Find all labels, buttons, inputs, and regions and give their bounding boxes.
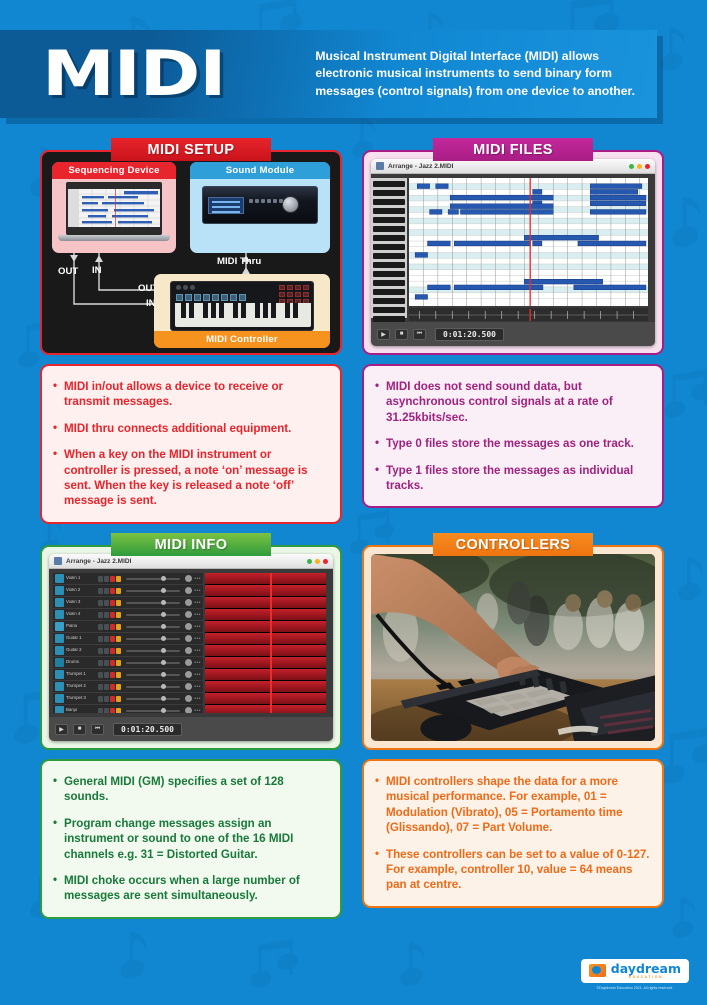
volume-fader[interactable] (126, 614, 180, 616)
header-subtitle: Musical Instrument Digital Interface (MI… (315, 48, 657, 100)
midi-info-bullets: General MIDI (GM) specifies a set of 128… (53, 774, 328, 904)
window-titlebar: Arrange - Jazz 2.MIDI (49, 554, 333, 569)
monitor-button[interactable] (116, 624, 121, 630)
window-controls[interactable] (307, 559, 328, 564)
app-icon (376, 162, 384, 170)
midi-region[interactable] (205, 633, 326, 645)
track-name: Violin 1 (66, 576, 96, 581)
solo-button[interactable] (104, 660, 109, 666)
track-name: Trumpet 1 (66, 672, 96, 677)
pan-knob[interactable] (185, 707, 192, 713)
keyboard-illustration (170, 281, 314, 331)
panel-midi-files: MIDI FILES Arrange - Jazz 2.MIDI (362, 138, 664, 508)
mute-button[interactable] (98, 672, 103, 678)
record-button[interactable] (110, 612, 115, 618)
device-midi-controller-label: MIDI Controller (154, 331, 330, 348)
volume-fader[interactable] (126, 650, 180, 652)
photo-midi-controller-performance (371, 554, 655, 741)
midi-setup-diagram: Sequencing Device (40, 150, 342, 355)
track-name: Violin 3 (66, 600, 96, 605)
window-title: Arrange - Jazz 2.MIDI (66, 558, 131, 565)
logo-mark-icon (589, 964, 606, 977)
device-sequencing: Sequencing Device (52, 162, 176, 253)
mute-button[interactable] (98, 648, 103, 654)
track-name: Violin 2 (66, 588, 96, 593)
track-name: Violin 4 (66, 612, 96, 617)
track-options-icon[interactable]: ••• (194, 660, 203, 666)
list-item: Type 0 files store the messages as one t… (375, 436, 650, 451)
panel-midi-setup: MIDI SETUP Sequencing Device (40, 138, 342, 524)
window-titlebar: Arrange - Jazz 2.MIDI (371, 159, 655, 174)
solo-button[interactable] (104, 576, 109, 582)
midi-files-text-box: MIDI does not send sound data, but async… (362, 364, 664, 508)
monitor-button[interactable] (116, 576, 121, 582)
table-row[interactable]: Trumpet 3••• (53, 693, 203, 705)
track-name: Trumpet 2 (66, 684, 96, 689)
list-item: When a key on the MIDI instrument or con… (53, 447, 328, 509)
window-title: Arrange - Jazz 2.MIDI (388, 163, 453, 170)
solo-button[interactable] (104, 600, 109, 606)
solo-button[interactable] (104, 636, 109, 642)
monitor-button[interactable] (116, 660, 121, 666)
table-row[interactable]: Violin 1••• (53, 573, 203, 585)
play-button[interactable]: ▶ (55, 724, 68, 735)
solo-button[interactable] (104, 672, 109, 678)
list-item: Type 1 files store the messages as indiv… (375, 463, 650, 494)
logo-name: daydream (611, 963, 681, 976)
record-button[interactable] (110, 600, 115, 606)
table-row[interactable]: Banjo••• (53, 705, 203, 713)
transport-bar-info[interactable]: ▶ ■ ⏮ 0:01:20.500 (49, 717, 333, 741)
track-options-icon[interactable]: ••• (194, 708, 203, 714)
timeline-ruler[interactable] (409, 308, 648, 320)
device-sequencing-label: Sequencing Device (52, 162, 176, 179)
note-grid[interactable] (409, 178, 648, 306)
maximize-icon[interactable] (637, 164, 642, 169)
instrument-icon (55, 682, 64, 691)
device-midi-controller: MIDI Controller (154, 274, 330, 348)
mute-button[interactable] (98, 684, 103, 690)
controllers-text-box: MIDI controllers shape the data for a mo… (362, 759, 664, 908)
mute-button[interactable] (98, 576, 103, 582)
label-in-left: IN (92, 265, 102, 276)
track-buttons[interactable] (98, 576, 121, 582)
table-row[interactable]: Violin 4••• (53, 609, 203, 621)
pan-knob[interactable] (185, 623, 192, 630)
daw-window-files: Arrange - Jazz 2.MIDI (371, 159, 655, 346)
banner-midi-setup: MIDI SETUP (111, 138, 271, 161)
midi-region[interactable] (205, 585, 326, 597)
instrument-icon (55, 634, 64, 643)
playhead[interactable] (270, 573, 272, 713)
mute-button[interactable] (98, 624, 103, 630)
midi-region[interactable] (205, 645, 326, 657)
table-row[interactable]: Guitar 1••• (53, 633, 203, 645)
pan-knob[interactable] (185, 659, 192, 666)
track-buttons[interactable] (98, 636, 121, 642)
volume-fader[interactable] (126, 578, 180, 580)
record-button[interactable] (110, 672, 115, 678)
midi-region[interactable] (205, 705, 326, 713)
banner-midi-files: MIDI FILES (433, 138, 593, 161)
list-item: MIDI controllers shape the data for a mo… (375, 774, 650, 836)
mute-button[interactable] (98, 600, 103, 606)
table-row[interactable]: Guitar 2••• (53, 645, 203, 657)
instrument-icon (55, 622, 64, 631)
volume-fader[interactable] (126, 674, 180, 676)
record-button[interactable] (110, 624, 115, 630)
track-buttons[interactable] (98, 708, 121, 714)
minimize-icon[interactable] (629, 164, 634, 169)
record-button[interactable] (110, 660, 115, 666)
midi-files-screenshot: Arrange - Jazz 2.MIDI (362, 150, 664, 355)
monitor-button[interactable] (116, 636, 121, 642)
pan-knob[interactable] (185, 587, 192, 594)
track-list[interactable]: Violin 1•••Violin 2•••Violin 3•••Violin … (53, 573, 203, 713)
track-options-icon[interactable]: ••• (194, 696, 203, 702)
midi-region[interactable] (205, 669, 326, 681)
track-options-icon[interactable]: ••• (194, 636, 203, 642)
midi-files-bullets: MIDI does not send sound data, but async… (375, 379, 650, 493)
track-buttons[interactable] (98, 696, 121, 702)
list-item: These controllers can be set to a value … (375, 847, 650, 893)
banner-controllers: CONTROLLERS (433, 533, 593, 556)
instrument-icon (55, 610, 64, 619)
pan-knob[interactable] (185, 695, 192, 702)
volume-fader[interactable] (126, 698, 180, 700)
track-name: Piano (66, 624, 96, 629)
track-name: Drums (66, 660, 96, 665)
label-midi-thru: MIDI Thru (217, 256, 261, 267)
laptop-illustration (66, 182, 162, 241)
midi-region[interactable] (205, 573, 326, 585)
track-options-icon[interactable]: ••• (194, 588, 203, 594)
device-sound-module: Sound Module (190, 162, 330, 253)
rewind-button[interactable]: ⏮ (91, 724, 104, 735)
play-button[interactable]: ▶ (377, 329, 390, 340)
maximize-icon[interactable] (315, 559, 320, 564)
instrument-icon (55, 670, 64, 679)
volume-fader[interactable] (126, 710, 180, 712)
midi-region[interactable] (205, 621, 326, 633)
label-out-left: OUT (58, 266, 78, 277)
table-row[interactable]: Piano••• (53, 621, 203, 633)
list-item: General MIDI (GM) specifies a set of 128… (53, 774, 328, 805)
pan-knob[interactable] (185, 599, 192, 606)
track-name: Guitar 1 (66, 636, 96, 641)
controllers-bullets: MIDI controllers shape the data for a mo… (375, 774, 650, 893)
midi-info-text-box: General MIDI (GM) specifies a set of 128… (40, 759, 342, 919)
daydream-education-logo: daydream EDUCATION (581, 959, 689, 984)
controllers-photo (362, 545, 664, 750)
monitor-button[interactable] (116, 612, 121, 618)
list-item: MIDI in/out allows a device to receive o… (53, 379, 328, 410)
instrument-icon (55, 706, 64, 713)
page-title: MIDI (42, 46, 225, 102)
solo-button[interactable] (104, 708, 109, 714)
solo-button[interactable] (104, 684, 109, 690)
pan-knob[interactable] (185, 575, 192, 582)
pan-knob[interactable] (185, 671, 192, 678)
instrument-icon (55, 586, 64, 595)
table-row[interactable]: Trumpet 2••• (53, 681, 203, 693)
midi-info-screenshot: Arrange - Jazz 2.MIDI Violin 1•••Violin … (40, 545, 342, 750)
close-icon[interactable] (323, 559, 328, 564)
timecode-display: 0:01:20.500 (435, 328, 504, 341)
monitor-button[interactable] (116, 648, 121, 654)
minimize-icon[interactable] (307, 559, 312, 564)
table-row[interactable]: Violin 2••• (53, 585, 203, 597)
track-options-icon[interactable]: ••• (194, 624, 203, 630)
close-icon[interactable] (645, 164, 650, 169)
page-header: MIDI Musical Instrument Digital Interfac… (0, 30, 663, 120)
solo-button[interactable] (104, 696, 109, 702)
track-name: Guitar 2 (66, 648, 96, 653)
list-item: MIDI choke occurs when a large number of… (53, 873, 328, 904)
midi-setup-text-box: MIDI in/out allows a device to receive o… (40, 364, 342, 524)
record-button[interactable] (110, 576, 115, 582)
midi-region[interactable] (205, 681, 326, 693)
solo-button[interactable] (104, 612, 109, 618)
track-options-icon[interactable]: ••• (194, 600, 203, 606)
record-button[interactable] (110, 636, 115, 642)
footer: daydream EDUCATION ©Daydream Education 2… (581, 959, 689, 991)
pan-knob[interactable] (185, 635, 192, 642)
track-options-icon[interactable]: ••• (194, 648, 203, 654)
monitor-button[interactable] (116, 684, 121, 690)
table-row[interactable]: Violin 3••• (53, 597, 203, 609)
track-buttons[interactable] (98, 588, 121, 594)
mute-button[interactable] (98, 708, 103, 714)
banner-midi-info: MIDI INFO (111, 533, 271, 556)
sound-module-illustration (202, 186, 318, 224)
arrange-area[interactable] (205, 573, 326, 713)
list-item: Program change messages assign an instru… (53, 816, 328, 862)
instrument-icon (55, 658, 64, 667)
track-buttons[interactable] (98, 600, 121, 606)
logo-tagline: EDUCATION (611, 975, 681, 979)
stop-button[interactable]: ■ (73, 724, 86, 735)
stop-button[interactable]: ■ (395, 329, 408, 340)
daw-window-info: Arrange - Jazz 2.MIDI Violin 1•••Violin … (49, 554, 333, 741)
transport-bar-files[interactable]: ▶ ■ ⏮ 0:01:20.500 (371, 322, 655, 346)
track-options-icon[interactable]: ••• (194, 672, 203, 678)
track-options-icon[interactable]: ••• (194, 576, 203, 582)
pan-knob[interactable] (185, 611, 192, 618)
solo-button[interactable] (104, 588, 109, 594)
volume-fader[interactable] (126, 638, 180, 640)
instrument-icon (55, 574, 64, 583)
track-buttons[interactable] (98, 612, 121, 618)
midi-setup-bullets: MIDI in/out allows a device to receive o… (53, 379, 328, 509)
volume-fader[interactable] (126, 686, 180, 688)
table-row[interactable]: Trumpet 1••• (53, 669, 203, 681)
track-options-icon[interactable]: ••• (194, 612, 203, 618)
monitor-button[interactable] (116, 708, 121, 714)
monitor-button[interactable] (116, 600, 121, 606)
instrument-icon (55, 598, 64, 607)
list-item: MIDI thru connects additional equipment. (53, 421, 328, 436)
volume-fader[interactable] (126, 602, 180, 604)
track-buttons[interactable] (98, 672, 121, 678)
list-item: MIDI does not send sound data, but async… (375, 379, 650, 425)
mute-button[interactable] (98, 696, 103, 702)
track-options-icon[interactable]: ••• (194, 684, 203, 690)
track-buttons[interactable] (98, 684, 121, 690)
volume-fader[interactable] (126, 626, 180, 628)
mute-button[interactable] (98, 588, 103, 594)
monitor-button[interactable] (116, 588, 121, 594)
piano-roll-editor[interactable] (371, 174, 655, 322)
track-buttons[interactable] (98, 624, 121, 630)
device-sound-module-label: Sound Module (190, 162, 330, 179)
piano-keyboard-strip (371, 178, 407, 318)
monitor-button[interactable] (116, 696, 121, 702)
record-button[interactable] (110, 708, 115, 714)
track-regions[interactable] (205, 573, 326, 713)
midi-region[interactable] (205, 657, 326, 669)
window-controls[interactable] (629, 164, 650, 169)
app-icon (54, 557, 62, 565)
record-button[interactable] (110, 684, 115, 690)
track-name: Trumpet 3 (66, 696, 96, 701)
midi-region[interactable] (205, 693, 326, 705)
volume-fader[interactable] (126, 590, 180, 592)
midi-region[interactable] (205, 609, 326, 621)
instrument-icon (55, 694, 64, 703)
mute-button[interactable] (98, 660, 103, 666)
midi-region[interactable] (205, 597, 326, 609)
solo-button[interactable] (104, 648, 109, 654)
panel-controllers: CONTROLLERS (362, 533, 664, 908)
pan-knob[interactable] (185, 683, 192, 690)
record-button[interactable] (110, 648, 115, 654)
monitor-button[interactable] (116, 672, 121, 678)
solo-button[interactable] (104, 624, 109, 630)
record-button[interactable] (110, 696, 115, 702)
panel-midi-info: MIDI INFO Arrange - Jazz 2.MIDI Violin 1… (40, 533, 342, 919)
track-name: Banjo (66, 708, 96, 713)
pan-knob[interactable] (185, 647, 192, 654)
instrument-icon (55, 646, 64, 655)
rewind-button[interactable]: ⏮ (413, 329, 426, 340)
record-button[interactable] (110, 588, 115, 594)
mute-button[interactable] (98, 612, 103, 618)
track-buttons[interactable] (98, 648, 121, 654)
copyright-text: ©Daydream Education 2021. All rights res… (581, 986, 689, 990)
table-row[interactable]: Drums••• (53, 657, 203, 669)
volume-fader[interactable] (126, 662, 180, 664)
timecode-display: 0:01:20.500 (113, 723, 182, 736)
mute-button[interactable] (98, 636, 103, 642)
track-buttons[interactable] (98, 660, 121, 666)
